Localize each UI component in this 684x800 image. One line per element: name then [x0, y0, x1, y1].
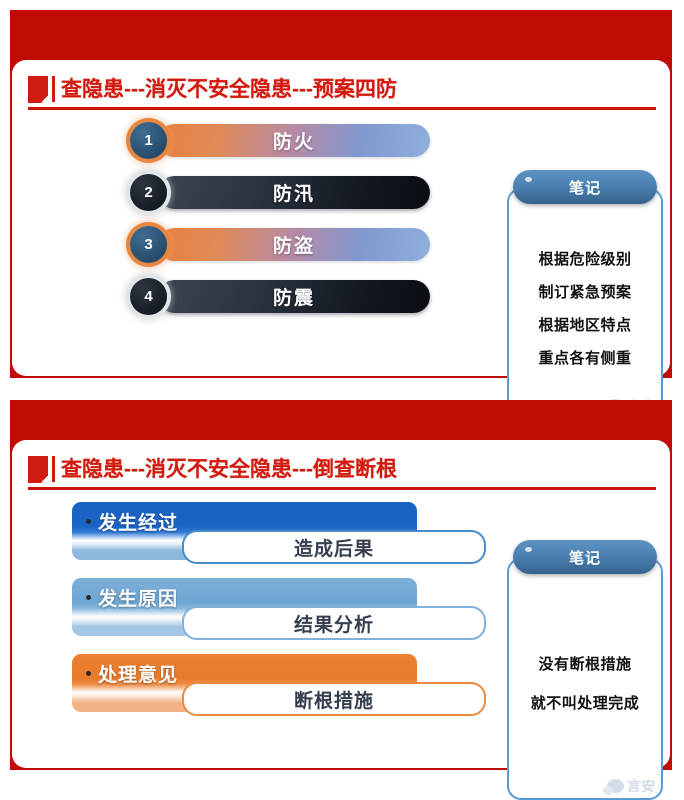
numbered-row-label: 防盗 [273, 231, 315, 258]
step-result-pill[interactable]: 造成后果 [182, 530, 486, 564]
wechat-logo-icon [607, 779, 624, 793]
step-head-label: 发生原因 [98, 584, 178, 611]
bullet-icon [86, 595, 91, 600]
notes-line: 根据危险级别 [538, 248, 631, 269]
slide-2-title-row: 查隐患---消灭不安全隐患---倒查断根 [28, 454, 656, 484]
numbered-row-bar[interactable]: 防盗 [158, 228, 430, 261]
slide-2-title-underline [28, 487, 656, 490]
title-accent-bar [52, 76, 55, 102]
numbered-row-badge: 2 [130, 174, 167, 211]
notes-header-label: 笔记 [569, 177, 601, 198]
slide-2-notes-panel: 笔记 没有断根措施 就不叫处理完成 言安 [507, 558, 663, 800]
notes-header-pill: 笔记 [513, 540, 657, 574]
numbered-row-label: 防震 [273, 283, 315, 310]
bullet-icon [86, 519, 91, 524]
step-head-label: 处理意见 [98, 660, 178, 687]
title-accent-bar [52, 456, 55, 482]
document-flag-icon [28, 76, 48, 103]
step-head-label-wrap: 发生原因 [86, 584, 178, 611]
numbered-row-label: 防火 [273, 127, 315, 154]
slide-deck-page: 查隐患---消灭不安全隐患---预案四防 防火 1 防汛 2 [0, 0, 684, 781]
step-head-label-wrap: 发生经过 [86, 508, 178, 535]
numbered-row-badge: 3 [130, 226, 167, 263]
slide-2-red-frame: 查隐患---消灭不安全隐患---倒查断根 发生经过 造成后果 [10, 400, 672, 770]
slide-1-notes-panel: 笔记 根据危险级别 制订紧急预案 根据地区特点 重点各有侧重 言安 [507, 188, 663, 420]
bullet-icon [86, 671, 91, 676]
numbered-row-bar[interactable]: 防汛 [158, 176, 430, 209]
numbered-row-bar[interactable]: 防火 [158, 124, 430, 157]
wechat-watermark: 言安 [607, 776, 655, 796]
numbered-row[interactable]: 防汛 2 [130, 174, 430, 211]
notes-line: 制订紧急预案 [538, 281, 631, 302]
slide-1-title-underline [28, 107, 656, 110]
notes-line: 没有断根措施 [538, 653, 631, 674]
numbered-row[interactable]: 防震 4 [130, 278, 430, 315]
numbered-row-label: 防汛 [273, 179, 315, 206]
notes-header-pill: 笔记 [513, 170, 657, 204]
slide-1-item-list: 防火 1 防汛 2 防盗 3 [130, 122, 430, 330]
numbered-row-badge: 1 [130, 122, 167, 159]
slide-2-title: 查隐患---消灭不安全隐患---倒查断根 [61, 459, 397, 480]
slide-2-step-list: 发生经过 造成后果 发生原因 结果分析 [72, 502, 482, 730]
step-result-label: 结果分析 [294, 610, 374, 637]
step-row[interactable]: 发生经过 造成后果 [72, 502, 482, 564]
step-row[interactable]: 发生原因 结果分析 [72, 578, 482, 640]
step-result-label: 造成后果 [294, 534, 374, 561]
slide-2-card: 查隐患---消灭不安全隐患---倒查断根 发生经过 造成后果 [12, 440, 670, 768]
slide-1-title-row: 查隐患---消灭不安全隐患---预案四防 [28, 74, 656, 104]
notes-line: 根据地区特点 [538, 314, 631, 335]
notes-header-label: 笔记 [569, 547, 601, 568]
notes-line: 就不叫处理完成 [531, 692, 640, 713]
slide-1-card: 查隐患---消灭不安全隐患---预案四防 防火 1 防汛 2 [12, 60, 670, 376]
step-head-label: 发生经过 [98, 508, 178, 535]
numbered-row[interactable]: 防盗 3 [130, 226, 430, 263]
numbered-row-badge: 4 [130, 278, 167, 315]
step-head-label-wrap: 处理意见 [86, 660, 178, 687]
notes-body: 根据危险级别 制订紧急预案 根据地区特点 重点各有侧重 [509, 220, 661, 396]
step-row[interactable]: 处理意见 断根措施 [72, 654, 482, 716]
document-flag-icon [28, 456, 48, 483]
notes-body: 没有断根措施 就不叫处理完成 [509, 590, 661, 776]
numbered-row-bar[interactable]: 防震 [158, 280, 430, 313]
notes-line: 重点各有侧重 [538, 347, 631, 368]
slide-1-red-frame: 查隐患---消灭不安全隐患---预案四防 防火 1 防汛 2 [10, 10, 672, 378]
step-result-pill[interactable]: 断根措施 [182, 682, 486, 716]
step-result-pill[interactable]: 结果分析 [182, 606, 486, 640]
numbered-row[interactable]: 防火 1 [130, 122, 430, 159]
watermark-label: 言安 [626, 776, 656, 796]
step-result-label: 断根措施 [294, 686, 374, 713]
slide-1-title: 查隐患---消灭不安全隐患---预案四防 [61, 79, 397, 100]
